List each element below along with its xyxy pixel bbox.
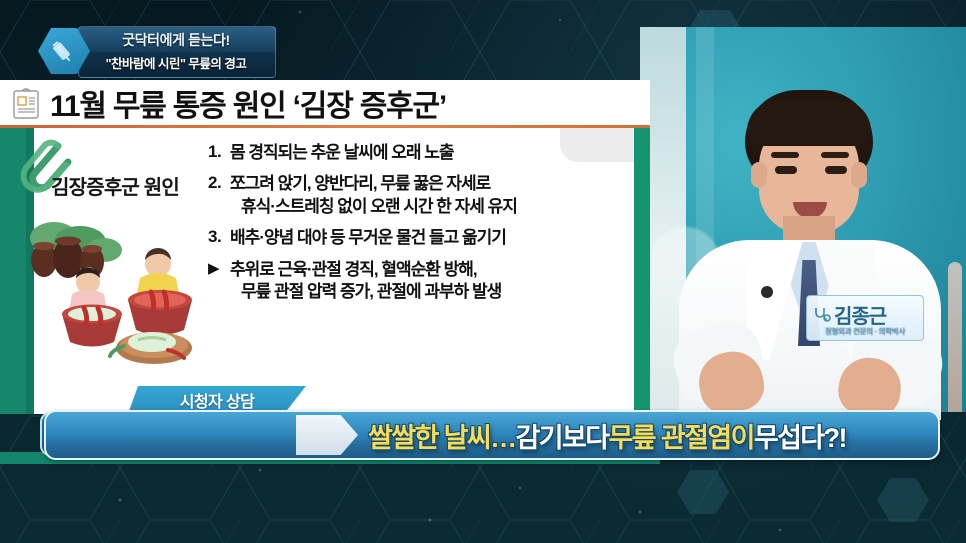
clipboard-icon: [8, 85, 44, 121]
list-item: 1. 몸 경직되는 추운 날씨에 오래 노출: [208, 142, 634, 164]
arrow-marker-icon: ▶: [208, 259, 230, 304]
list-item-number: 2.: [208, 173, 230, 218]
guest-subtitle: 정형외과 전문의 · 의학박사: [812, 326, 918, 337]
stethoscope-icon: [812, 305, 832, 325]
program-badge-line2: "찬바람에 시린" 무릎의 경고: [82, 51, 270, 73]
list-item-text: 쪼그려 앉기, 양반다리, 무릎 꿇은 자세로: [230, 174, 490, 193]
content-card: 김장증후군 원인: [0, 128, 650, 414]
viewer-consult-label: 시청자 상담: [180, 388, 254, 412]
card-side-label: 김장증후군 원인: [30, 168, 200, 202]
page-title: 11월 무릎 통증 원인 ‘김장 증후군’: [50, 82, 446, 124]
banner-headline: 쌀쌀한 날씨… 감기보다 무릎 관절염이 무섭다?!: [368, 412, 928, 458]
card-right-accent: [634, 128, 650, 414]
banner-segment-4: 무섭다?!: [754, 416, 846, 455]
guest-nametag: 김종근 정형외과 전문의 · 의학박사: [806, 295, 924, 341]
cause-list: 1. 몸 경직되는 추운 날씨에 오래 노출 2. 쪼그려 앉기, 양반다리, …: [208, 142, 634, 313]
banner-segment-2: 감기보다: [516, 416, 609, 455]
program-badge-line1: 굿닥터에게 듣는다!: [82, 29, 270, 51]
banner-segment-1: 쌀쌀한 날씨…: [368, 416, 516, 455]
list-item-text: 몸 경직되는 추운 날씨에 오래 노출: [230, 143, 454, 162]
conclusion-text: 추위로 근육·관절 경직, 혈액순환 방해,: [230, 260, 477, 279]
list-item-number: 3.: [208, 227, 230, 249]
lapel-microphone-icon: [761, 286, 773, 298]
doctor-figure: [655, 90, 966, 420]
kimjang-illustration: [18, 216, 204, 386]
list-item-number: 1.: [208, 142, 230, 164]
list-item: 3. 배추·양념 대야 등 무거운 물건 들고 옮기기: [208, 227, 634, 249]
banner-segment-3: 무릎 관절염이: [608, 416, 753, 455]
list-item: 2. 쪼그려 앉기, 양반다리, 무릎 꿇은 자세로 휴식·스트레칭 없이 오랜…: [208, 173, 634, 218]
list-item-text: 배추·양념 대야 등 무거운 물건 들고 옮기기: [230, 228, 506, 247]
guest-name: 김종근: [834, 300, 886, 329]
conclusion-text-2: 무릎 관절 압력 증가, 관절에 과부하 발생: [230, 281, 501, 303]
broadcast-screen: 김종근 정형외과 전문의 · 의학박사 굿닥터에게 듣는다! "찬바람에 시린"…: [0, 0, 966, 543]
list-item-conclusion: ▶ 추위로 근육·관절 경직, 혈액순환 방해, 무릎 관절 압력 증가, 관절…: [208, 259, 634, 304]
list-item-text-2: 휴식·스트레칭 없이 오랜 시간 한 자세 유지: [230, 196, 517, 218]
program-badge: 굿닥터에게 듣는다! "찬바람에 시린" 무릎의 경고: [38, 26, 274, 76]
title-bar: 11월 무릎 통증 원인 ‘김장 증후군’: [0, 80, 650, 125]
